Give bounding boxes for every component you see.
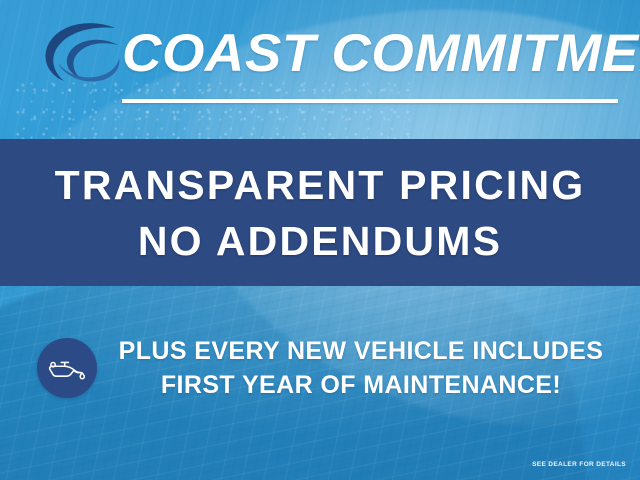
claim-line-transparent-pricing: TRANSPARENT PRICING xyxy=(55,158,586,212)
coast-commitment-banner: COAST COMMITMENT TRANSPARENT PRICING NO … xyxy=(0,0,640,480)
maintenance-promo: PLUS EVERY NEW VEHICLE INCLUDES FIRST YE… xyxy=(0,330,640,406)
promo-line-plus-every-new-vehicle: PLUS EVERY NEW VEHICLE INCLUDES xyxy=(119,334,604,368)
claim-band: TRANSPARENT PRICING NO ADDENDUMS xyxy=(0,139,640,286)
header-divider xyxy=(122,99,618,103)
maintenance-promo-text: PLUS EVERY NEW VEHICLE INCLUDES FIRST YE… xyxy=(119,334,604,402)
disclaimer-text: SEE DEALER FOR DETAILS xyxy=(532,460,626,469)
promo-line-first-year-maintenance: FIRST YEAR OF MAINTENANCE! xyxy=(161,368,561,402)
oil-can-icon xyxy=(37,338,97,398)
coast-wave-swoosh-logo-icon xyxy=(38,19,124,93)
page-title: COAST COMMITMENT xyxy=(122,21,640,87)
claim-line-no-addendums: NO ADDENDUMS xyxy=(138,214,502,268)
banner-header: COAST COMMITMENT xyxy=(0,0,640,112)
